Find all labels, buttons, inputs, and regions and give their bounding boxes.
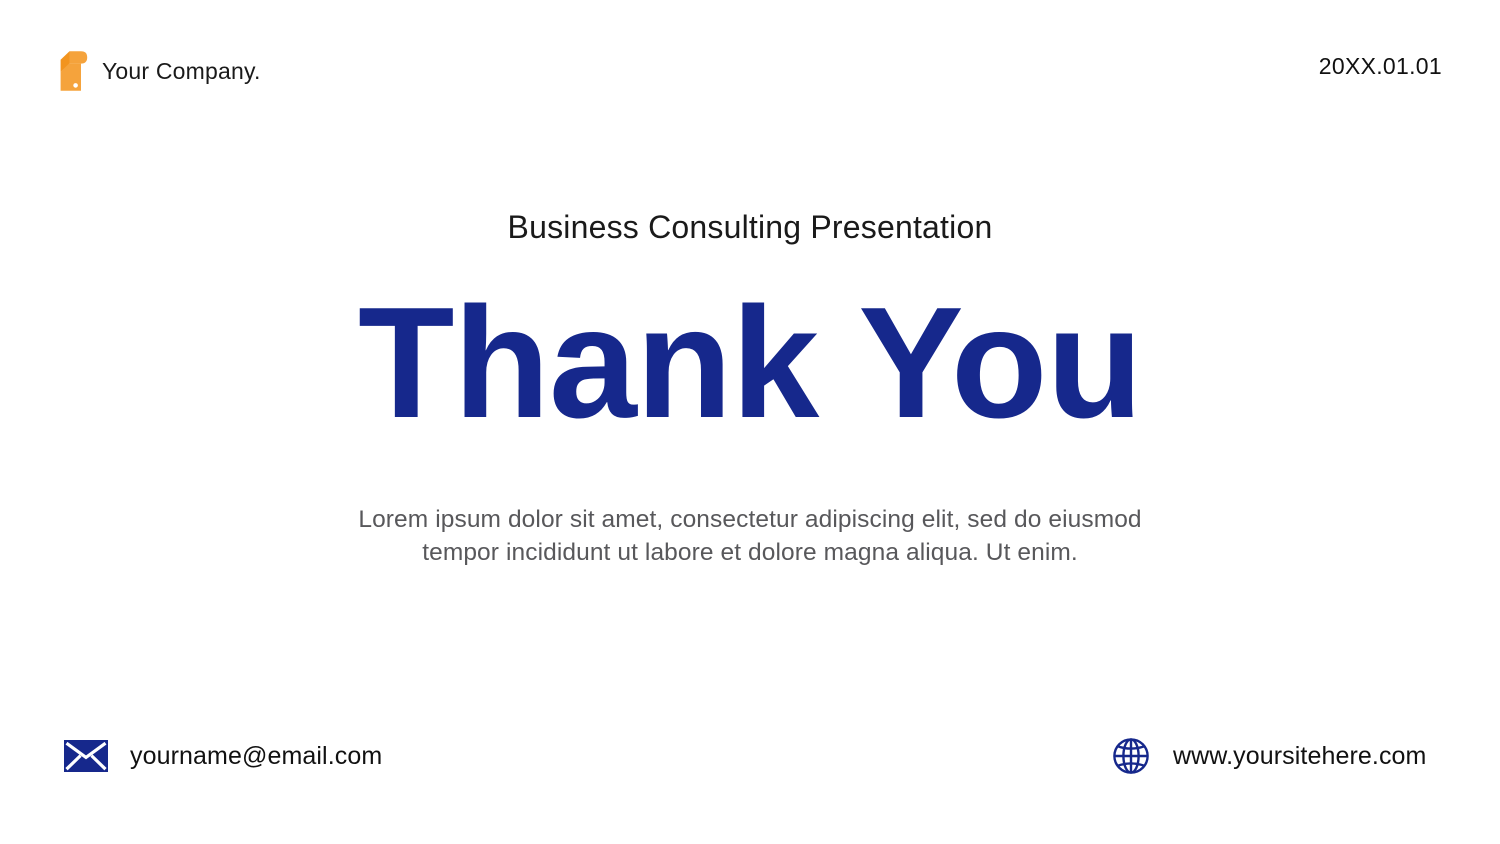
company-name: Your Company. [102,60,261,83]
website-url: www.yoursitehere.com [1173,744,1426,769]
presentation-subtitle: Business Consulting Presentation [0,208,1500,246]
email-address: yourname@email.com [130,744,382,769]
brand-lockup: Your Company. [58,47,261,95]
page-title: Thank You [0,284,1500,442]
slide-date: 20XX.01.01 [1319,55,1442,78]
folded-ribbon-logo-icon [58,50,88,92]
contact-website[interactable]: www.yoursitehere.com [1111,734,1426,778]
body-paragraph: Lorem ipsum dolor sit amet, consectetur … [0,504,1500,569]
envelope-icon [64,740,108,772]
globe-icon [1111,736,1151,776]
slide-footer: yourname@email.com www.yoursitehere.com [0,734,1500,778]
presentation-slide: Your Company. 20XX.01.01 Business Consul… [0,0,1500,844]
slide-main-content: Business Consulting Presentation Thank Y… [0,208,1500,570]
slide-header: Your Company. 20XX.01.01 [0,47,1500,95]
body-paragraph-line-2: tempor incididunt ut labore et dolore ma… [0,537,1500,570]
body-paragraph-line-1: Lorem ipsum dolor sit amet, consectetur … [0,504,1500,537]
contact-email[interactable]: yourname@email.com [64,734,382,778]
